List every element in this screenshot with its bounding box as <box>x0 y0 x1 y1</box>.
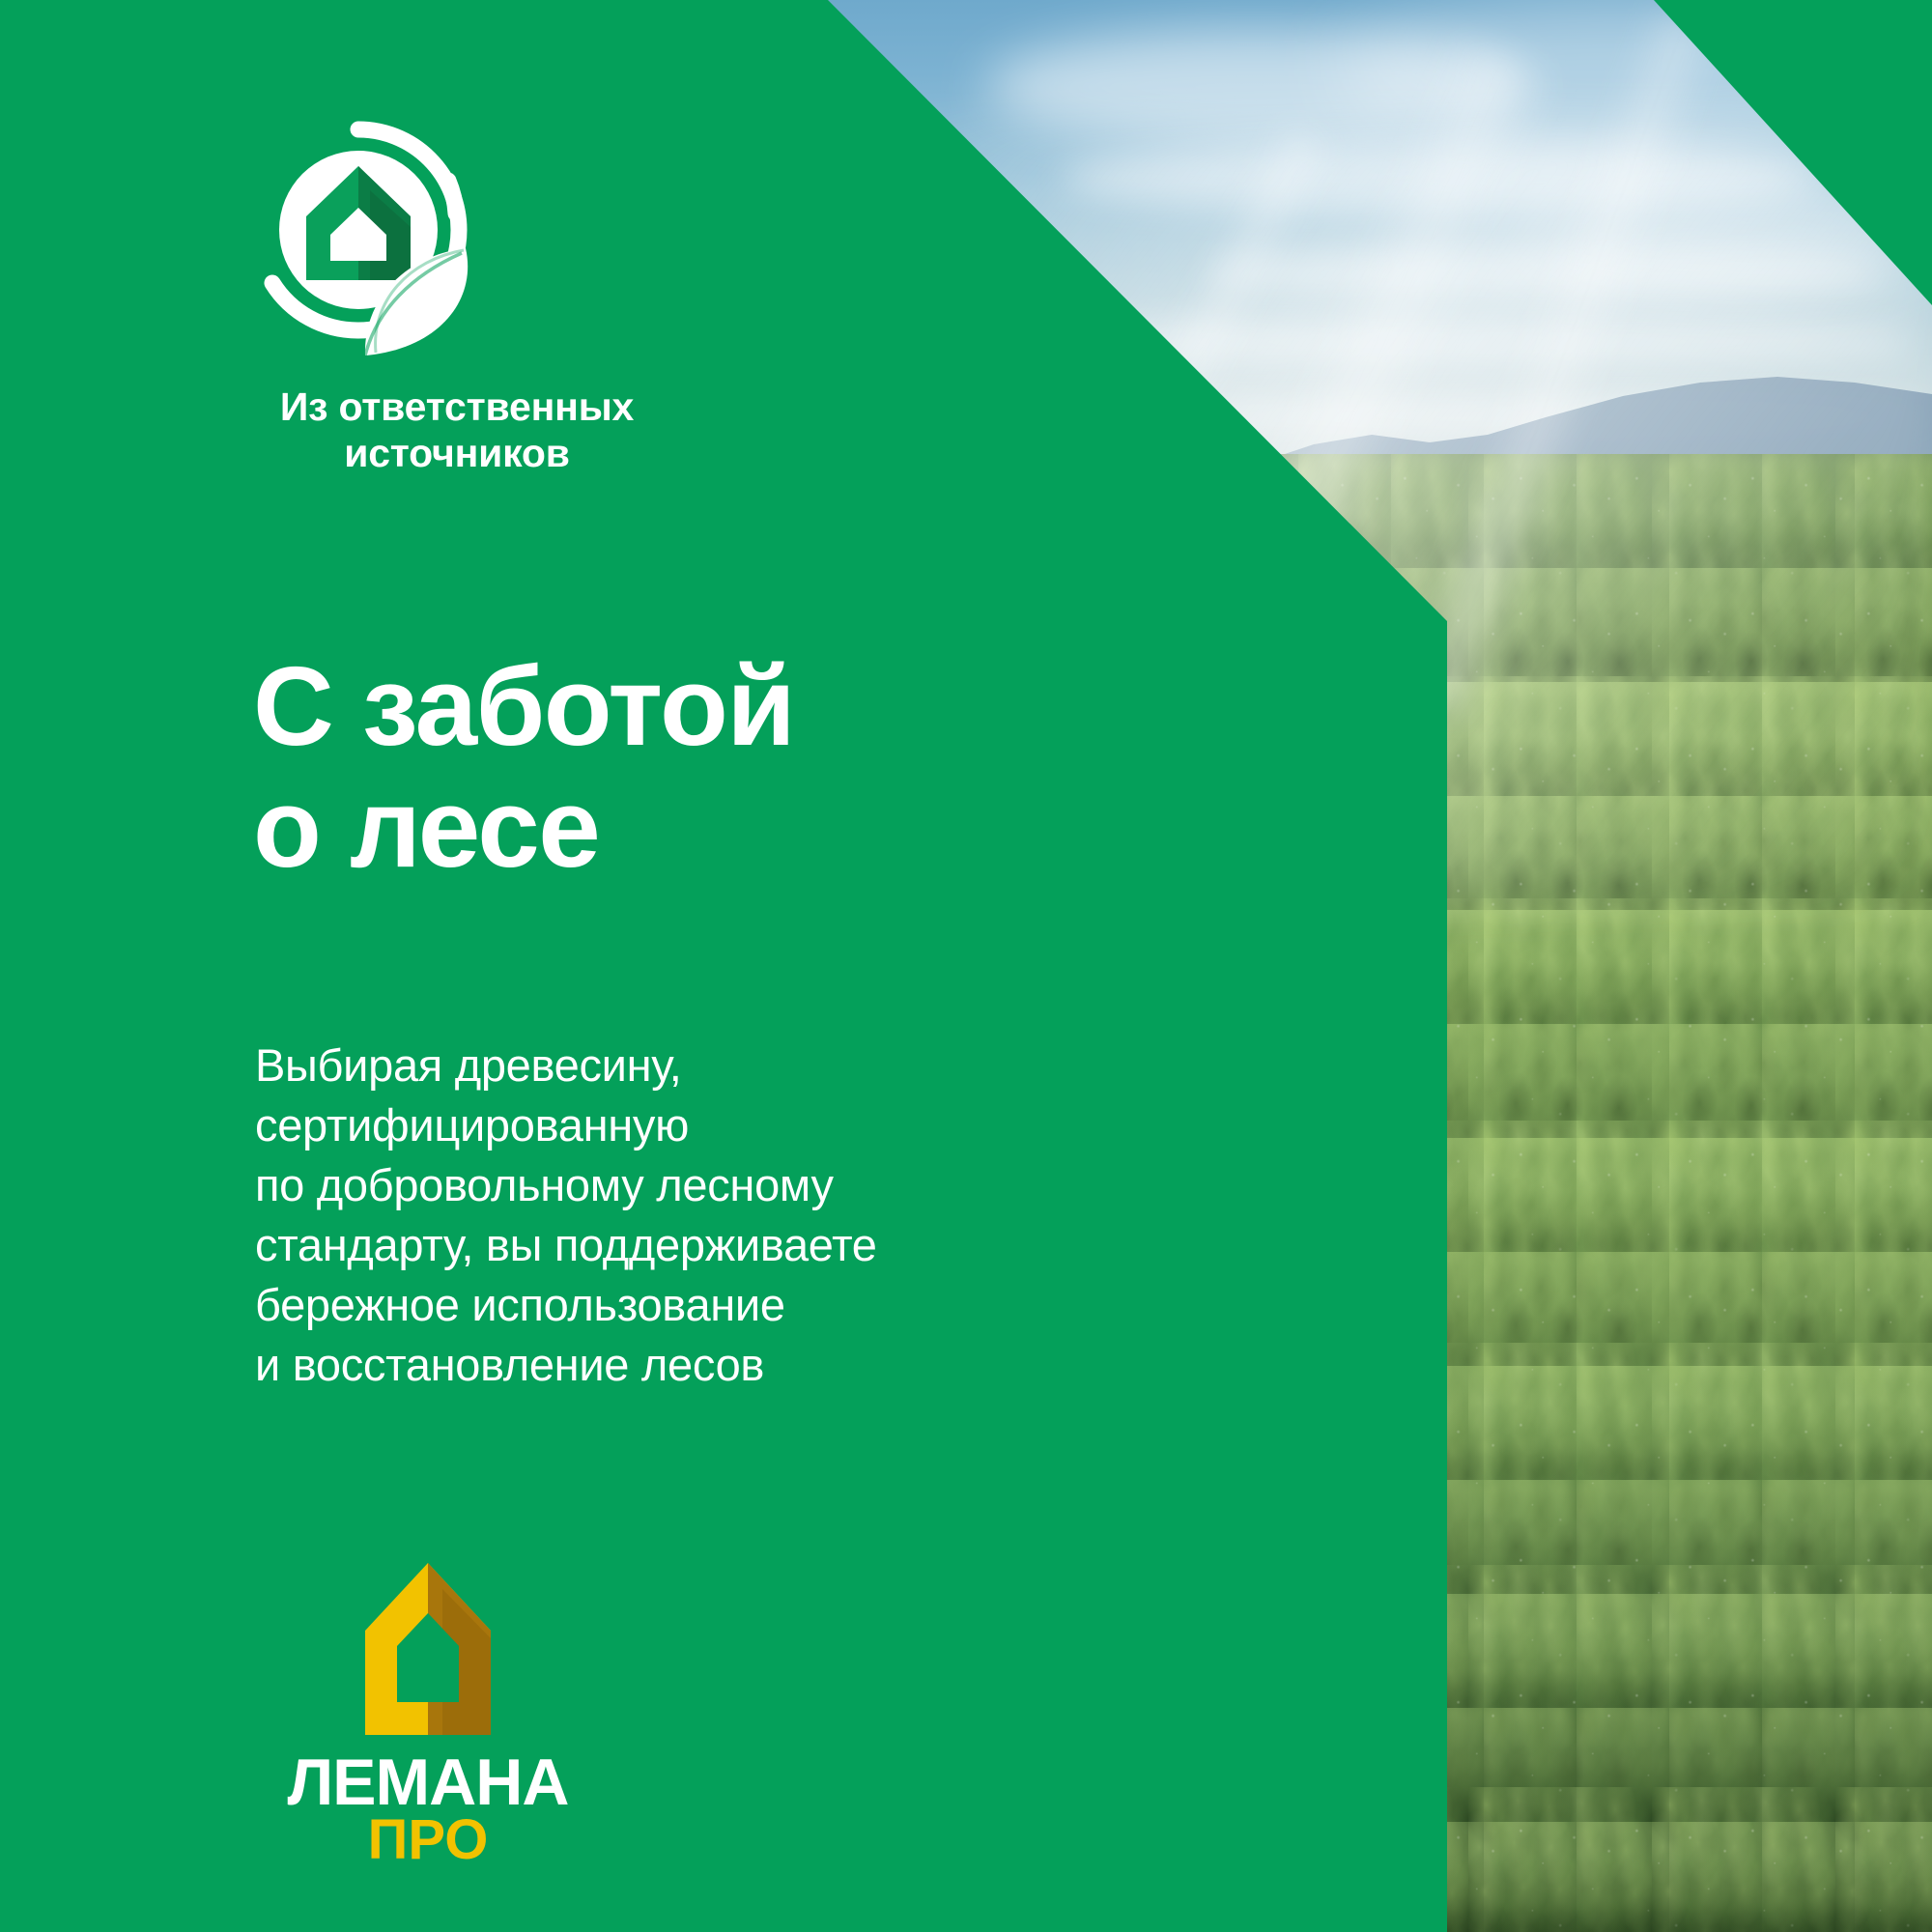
eco-badge-caption-line2: источников <box>259 430 655 476</box>
brand-name-secondary: ПРО <box>368 1808 489 1864</box>
lemana-pro-logo: ЛЕМАНА ПРО <box>244 1546 611 1864</box>
page-title: С заботой о лесе <box>253 645 794 890</box>
poster-root: Из ответственных источников С заботой о … <box>0 0 1932 1932</box>
lemana-house-icon <box>365 1563 491 1735</box>
eco-badge: Из ответственных источников <box>249 121 674 477</box>
eco-badge-caption-line1: Из ответственных <box>280 384 634 429</box>
eco-house-leaf-circle-icon <box>249 121 505 362</box>
brand-logo: ЛЕМАНА ПРО <box>244 1546 611 1864</box>
brand-name-secondary-shape: ПРО <box>368 1808 489 1864</box>
eco-badge-caption: Из ответственных источников <box>249 384 655 477</box>
body-paragraph: Выбирая древесину, сертифицированную по … <box>255 1036 877 1395</box>
poster-content: Из ответственных источников С заботой о … <box>0 0 1932 1932</box>
